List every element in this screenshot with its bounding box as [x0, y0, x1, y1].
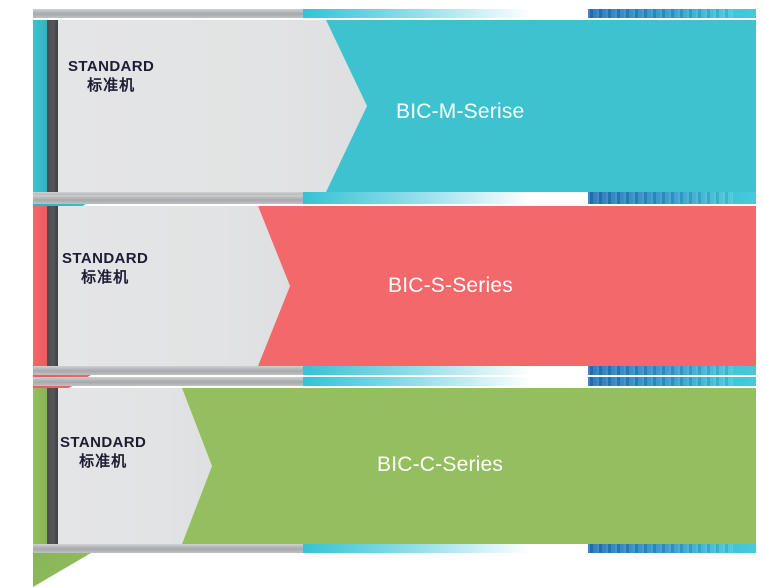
band-dark-bar: [47, 20, 58, 192]
band-dark-bar: [47, 388, 58, 544]
strip-segment-gray: [33, 9, 303, 18]
band-body: [33, 20, 756, 192]
strip-segment-teal2: [733, 377, 756, 386]
band-bottom-strip: [33, 366, 756, 375]
strip-segment-teal: [303, 366, 588, 375]
standard-label: STANDARD标准机: [60, 434, 146, 472]
strip-segment-gray: [33, 377, 303, 386]
standard-label-cn: 标准机: [68, 77, 154, 96]
strip-segment-deepblue: [588, 9, 733, 18]
strip-segment-deepblue: [588, 366, 733, 375]
standard-label-en: STANDARD: [62, 250, 148, 269]
band-accent-bar: [33, 206, 47, 366]
strip-segment-deepblue: [588, 544, 733, 553]
standard-label: STANDARD标准机: [62, 250, 148, 288]
band-accent-bar: [33, 20, 47, 192]
standard-arrow-panel[interactable]: [58, 20, 369, 192]
strip-segment-teal2: [733, 9, 756, 18]
standard-label: STANDARD标准机: [68, 58, 154, 96]
strip-segment-deepblue: [588, 377, 733, 386]
strip-segment-teal2: [733, 366, 756, 375]
standard-label-cn: 标准机: [60, 453, 146, 472]
series-name-label: BIC-C-Series: [377, 453, 503, 477]
strip-segment-teal: [303, 377, 588, 386]
band-top-strip: [33, 195, 756, 204]
band-accent-bar: [33, 388, 47, 544]
strip-segment-gray: [33, 195, 303, 204]
standard-label-en: STANDARD: [60, 434, 146, 453]
series-name-label: BIC-M-Serise: [396, 100, 524, 124]
band-corner-tail: [33, 553, 91, 587]
series-color-field: [326, 20, 756, 192]
strip-segment-teal: [303, 195, 588, 204]
band-bottom-strip: [33, 544, 756, 553]
series-name-label: BIC-S-Series: [388, 274, 513, 298]
strip-segment-teal2: [733, 195, 756, 204]
standard-label-cn: 标准机: [62, 269, 148, 288]
strip-segment-gray: [33, 544, 303, 553]
strip-segment-deepblue: [588, 195, 733, 204]
strip-segment-gray: [33, 366, 303, 375]
standard-label-en: STANDARD: [68, 58, 154, 77]
banner-canvas: STANDARD标准机BIC-M-SeriseSTANDARD标准机BIC-S-…: [0, 0, 764, 575]
strip-segment-teal: [303, 544, 588, 553]
strip-segment-teal: [303, 9, 588, 18]
band-top-strip: [33, 377, 756, 386]
band-dark-bar: [47, 206, 58, 366]
series-band-band-m[interactable]: [0, 9, 764, 205]
band-top-strip: [33, 9, 756, 18]
strip-segment-teal2: [733, 544, 756, 553]
